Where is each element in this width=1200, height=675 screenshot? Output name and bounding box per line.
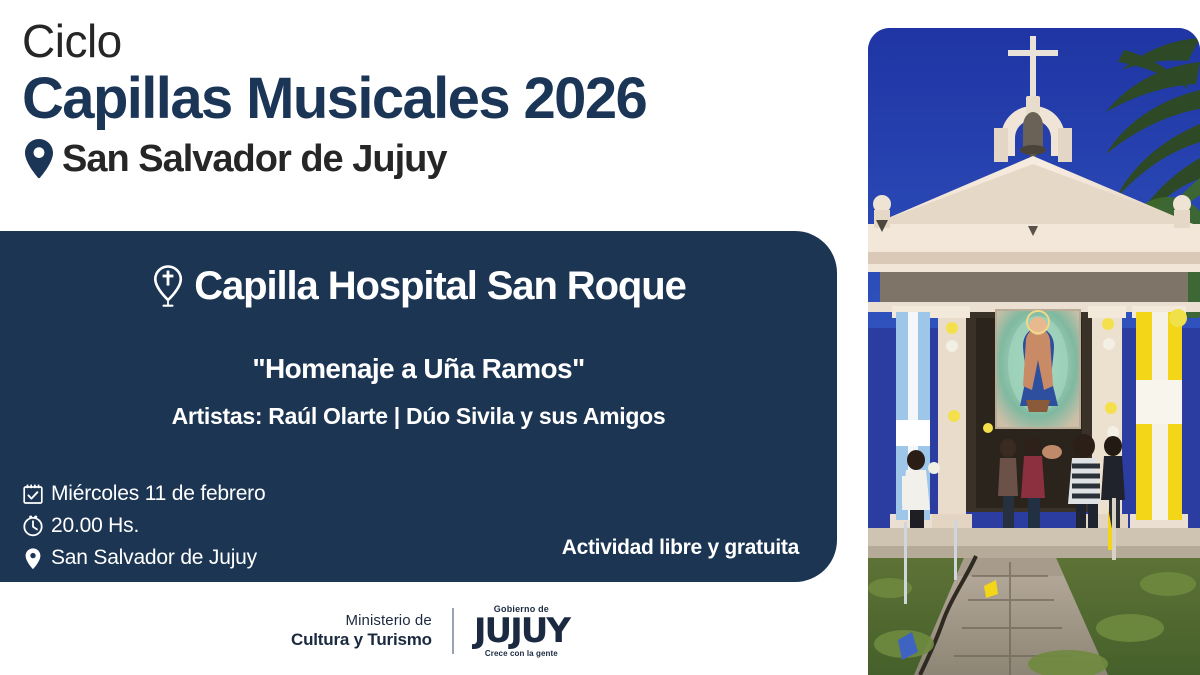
venue-name: Capilla Hospital San Roque	[194, 263, 685, 309]
venue-photo	[868, 28, 1200, 675]
footer-logos: Ministerio de Cultura y Turismo Gobierno…	[0, 596, 860, 666]
church-pin-icon	[151, 264, 185, 308]
calendar-check-icon	[22, 483, 44, 505]
event-details: Miércoles 11 de febrero 20.00 Hs.	[22, 479, 265, 575]
ministry-logo: Ministerio de Cultura y Turismo	[291, 612, 432, 650]
tribute-title: "Homenaje a Uña Ramos"	[0, 353, 837, 385]
detail-date-label: Miércoles 11 de febrero	[51, 482, 265, 506]
poster-header: Ciclo Capillas Musicales 2026 San Salvad…	[22, 14, 842, 180]
detail-row-date: Miércoles 11 de febrero	[22, 479, 265, 509]
free-activity-note: Actividad libre y gratuita	[562, 536, 799, 560]
poster: Ciclo Capillas Musicales 2026 San Salvad…	[0, 0, 1200, 675]
artists-line: Artistas: Raúl Olarte | Dúo Sivila y sus…	[0, 403, 837, 430]
detail-row-time: 20.00 Hs.	[22, 511, 265, 541]
venue-row: Capilla Hospital San Roque	[0, 263, 837, 309]
government-logo-tagline: Crece con la gente	[474, 648, 569, 659]
clock-icon	[22, 515, 44, 537]
ministry-line-1: Ministerio de	[291, 612, 432, 630]
event-panel: Capilla Hospital San Roque "Homenaje a U…	[0, 231, 837, 582]
footer-divider	[452, 608, 454, 654]
header-location-label: San Salvador de Jujuy	[62, 138, 446, 180]
page-title: Capillas Musicales 2026	[22, 66, 842, 132]
map-pin-icon	[22, 138, 56, 180]
left-column: Ciclo Capillas Musicales 2026 San Salvad…	[0, 0, 860, 675]
detail-place-label: San Salvador de Jujuy	[51, 546, 257, 570]
kicker-text: Ciclo	[22, 14, 842, 68]
map-pin-icon	[22, 547, 44, 569]
detail-row-place: San Salvador de Jujuy	[22, 543, 265, 573]
government-logo-name: JUJUY	[474, 615, 569, 648]
header-location: San Salvador de Jujuy	[22, 138, 842, 180]
ministry-line-2: Cultura y Turismo	[291, 630, 432, 650]
government-logo: Gobierno de JUJUY Crece con la gente	[474, 604, 569, 659]
detail-time-label: 20.00 Hs.	[51, 514, 139, 538]
